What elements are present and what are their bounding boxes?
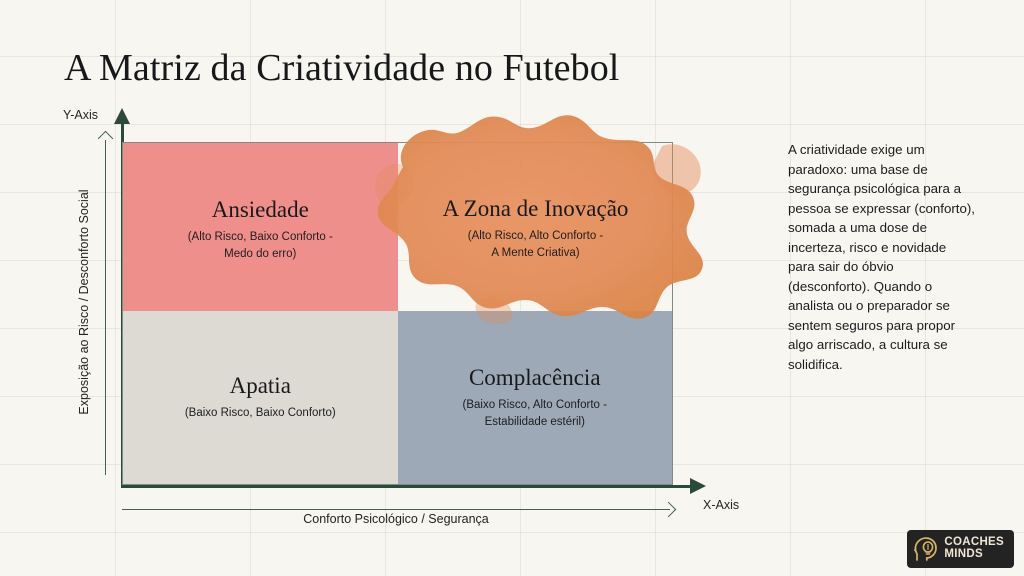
y-axis-direction-arrowhead-icon — [98, 131, 114, 147]
quadrant-subtitle-line2: A Mente Criativa) — [491, 247, 579, 259]
y-axis-tag: Y-Axis — [63, 108, 98, 122]
quadrant-subtitle: (Baixo Risco, Alto Conforto - Estabilida… — [463, 397, 607, 430]
quadrant-subtitle-line1: (Baixo Risco, Baixo Conforto) — [185, 407, 336, 419]
quadrant-title: Apatia — [230, 373, 291, 398]
head-lightbulb-icon — [914, 536, 938, 562]
x-axis-tag: X-Axis — [703, 498, 739, 512]
quadrant-title: A Zona de Inovação — [443, 196, 629, 221]
x-axis-caption: Conforto Psicológico / Segurança — [122, 512, 670, 526]
quadrant-subtitle: (Baixo Risco, Baixo Conforto) — [185, 405, 336, 422]
quadrant-subtitle: (Alto Risco, Baixo Conforto - Medo do er… — [188, 229, 333, 262]
x-axis-direction-arrow — [122, 509, 670, 510]
quadrant-complacencia[interactable]: Complacência (Baixo Risco, Alto Conforto… — [398, 311, 673, 484]
quadrant-ansiedade[interactable]: Ansiedade (Alto Risco, Baixo Conforto - … — [123, 143, 398, 316]
quadrant-apatia[interactable]: Apatia (Baixo Risco, Baixo Conforto) — [123, 311, 398, 484]
quadrant-subtitle-line1: (Baixo Risco, Alto Conforto - — [463, 399, 607, 411]
logo-text: COACHES MINDS — [944, 537, 1004, 560]
quadrant-subtitle-line2: Estabilidade estéril) — [485, 416, 585, 428]
quadrant-title: Complacência — [469, 365, 601, 390]
quadrant-title: Ansiedade — [212, 197, 309, 222]
page-title: A Matriz da Criatividade no Futebol — [64, 46, 619, 90]
quadrant-zona-de-inovacao[interactable]: A Zona de Inovação (Alto Risco, Alto Con… — [398, 142, 673, 316]
quadrant-subtitle-line1: (Alto Risco, Baixo Conforto - — [188, 231, 333, 243]
quadrant-subtitle-line1: (Alto Risco, Alto Conforto - — [468, 230, 604, 242]
y-axis-arrowhead-icon — [114, 108, 130, 124]
x-axis-line — [121, 485, 693, 488]
quadrant-subtitle: (Alto Risco, Alto Conforto - A Mente Cri… — [468, 228, 604, 261]
quadrant-subtitle-line2: Medo do erro) — [224, 248, 296, 260]
sidenote-paragraph: A criatividade exige um paradoxo: uma ba… — [788, 140, 976, 374]
y-axis-caption: Exposição ao Risco / Desconforto Social — [77, 132, 91, 472]
x-axis-arrowhead-icon — [690, 478, 706, 494]
slide-canvas: A Matriz da Criatividade no Futebol Y-Ax… — [0, 0, 1024, 576]
logo-line2: MINDS — [944, 549, 1004, 561]
y-axis-direction-arrow — [105, 140, 106, 475]
coaches-minds-logo[interactable]: COACHES MINDS — [907, 530, 1014, 568]
